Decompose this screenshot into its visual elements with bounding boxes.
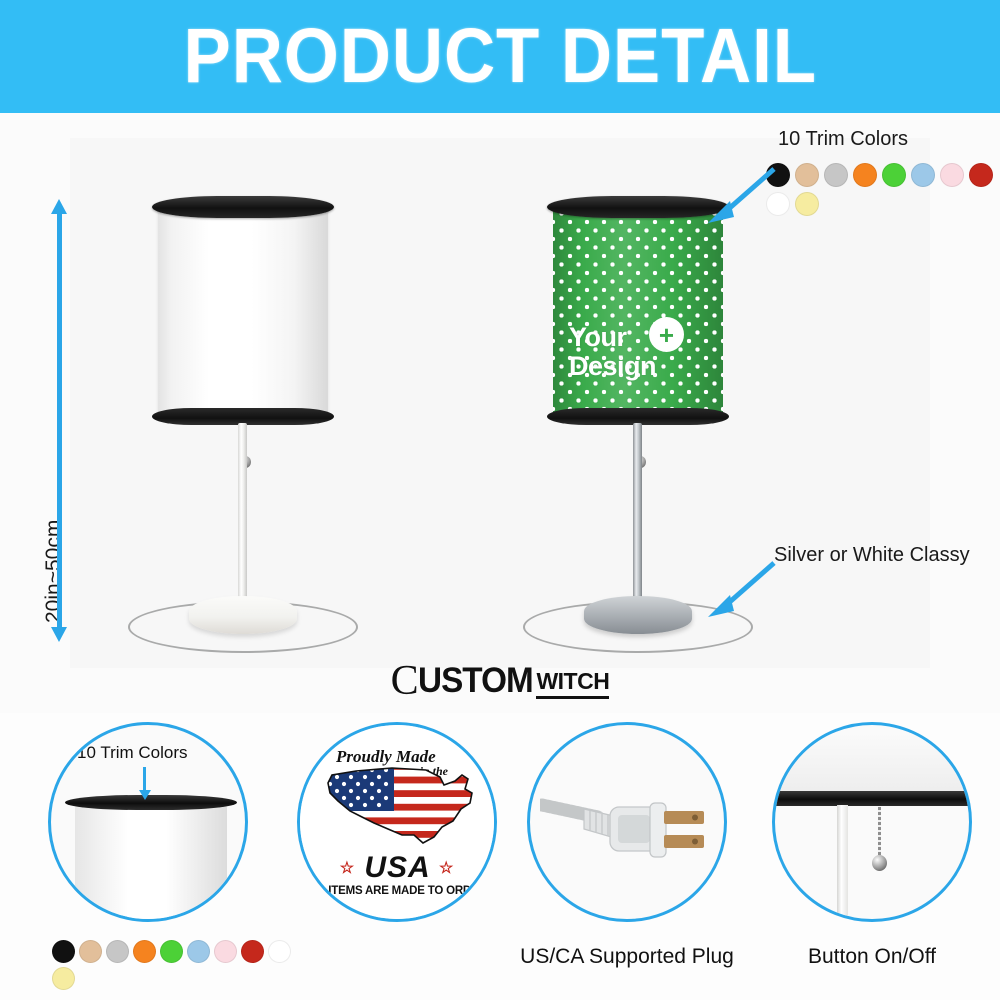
design-line-2: Design [569,351,656,381]
trim-swatch-light-blue[interactable] [911,163,935,187]
trim-colors-down-arrow-icon [143,767,146,791]
hero-panel: 7in~18cm 20in~50cm Your De [0,113,1000,713]
feature-button-caption: Button On/Off [748,945,996,969]
trim-swatch-white[interactable] [268,940,291,963]
usa-tagline: ALL ITEMS ARE MADE TO ORDER! [300,885,494,897]
header-banner: PRODUCT DETAIL [0,0,1000,113]
logo-main-text: USTOM [418,661,533,701]
feature-made-in-usa: Proudly Made in the [297,722,497,922]
brand-logo: C USTOM WITCH [0,660,1000,702]
bottom-trim-color-swatches [52,940,292,990]
trim-top [152,196,334,218]
trim-swatch-green[interactable] [160,940,183,963]
product-detail-page: PRODUCT DETAIL 7in~18cm 20in~50cm [0,0,1000,1000]
trim-swatch-gray[interactable] [824,163,848,187]
lampshade-green: Your Design + [553,205,723,417]
usa-word-text: USA [364,851,429,884]
height-dimension-arrow [57,213,62,628]
feature-plug-caption: US/CA Supported Plug [503,945,751,969]
trim-swatch-orange[interactable] [853,163,877,187]
base-finish-pointer-arrow [700,557,780,621]
trim-swatch-gray[interactable] [106,940,129,963]
height-dimension-label: 20in~50cm [42,520,66,623]
page-title: PRODUCT DETAIL [183,12,816,101]
lampshade-bottom-closeup [772,733,972,795]
trim-swatch-tan[interactable] [79,940,102,963]
add-design-plus-icon[interactable]: + [649,317,684,352]
star-right-icon: ☆ [439,860,454,877]
trim-swatch-red[interactable] [969,163,993,187]
logo-c-mark: C [391,660,419,702]
trim-swatch-pink[interactable] [214,940,237,963]
pull-chain-knob-closeup[interactable] [872,855,887,871]
lamp-base-white [189,596,297,634]
trim-swatch-green[interactable] [882,163,906,187]
lampshade-white [158,205,328,417]
design-line-1: Your [569,322,627,352]
usa-word: ☆ USA ☆ [300,851,494,885]
feature-trim-colors-label: 10 Trim Colors [77,743,188,763]
feature-plug [527,722,727,922]
feature-trim-colors: 10 Trim Colors [48,722,248,922]
trim-swatch-pink[interactable] [940,163,964,187]
trim-swatch-light-blue[interactable] [187,940,210,963]
trim-swatch-red[interactable] [241,940,264,963]
logo-sub-text: WITCH [536,668,609,699]
pull-chain-closeup [878,807,881,859]
star-left-icon: ☆ [340,860,355,877]
your-design-text: Your Design [569,323,709,381]
lamp-base-silver [584,596,692,634]
trim-colors-header: 10 Trim Colors [778,128,908,151]
trim-swatch-yellow[interactable] [795,192,819,216]
lampshade-surface [158,205,328,417]
feature-button [772,722,972,922]
lamp-pole-closeup [837,805,848,922]
trim-swatch-yellow[interactable] [52,967,75,990]
trim-swatch-black[interactable] [52,940,75,963]
trim-band-closeup [772,791,972,806]
base-finish-label: Silver or White Classy [774,544,970,567]
power-plug-icon [540,771,720,881]
lamp-pole-white [238,423,247,618]
lamp-pole-silver [633,423,642,618]
usa-map-flag-icon [322,763,482,851]
lampshade-surface-green: Your Design + [553,205,723,417]
lampshade-closeup [75,803,227,922]
trim-band-closeup [65,795,237,810]
trim-pointer-arrow [700,163,780,227]
trim-swatch-tan[interactable] [795,163,819,187]
trim-swatch-orange[interactable] [133,940,156,963]
trim-color-swatches [766,163,1000,216]
usa-badge: Proudly Made in the [300,725,494,919]
